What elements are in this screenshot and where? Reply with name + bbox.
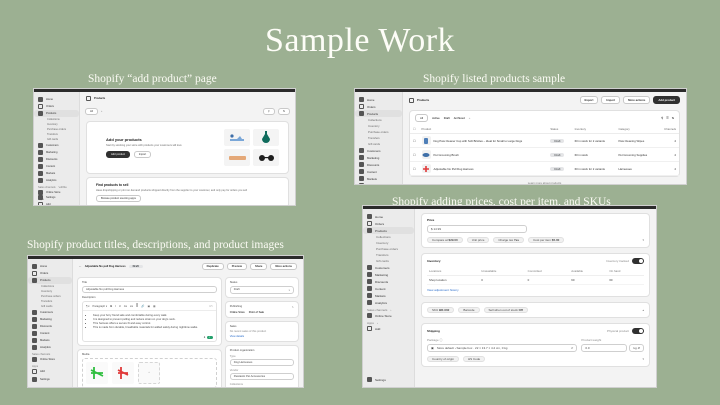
sidebar-item-content[interactable]: Content xyxy=(34,163,79,170)
sourcing-card: Find products to sell Have dropshipping … xyxy=(86,177,289,205)
row-checkbox[interactable]: ☐ xyxy=(413,139,416,143)
caption-listed-products: Shopify listed products sample xyxy=(423,73,565,85)
add-product-button[interactable]: Add product xyxy=(106,151,130,158)
sidebar-item-label: Home xyxy=(46,98,53,101)
paragraph-style-dropdown[interactable]: ¶ ▾ xyxy=(86,304,90,308)
sidebar-item-discounts[interactable]: Discounts xyxy=(34,156,79,163)
table-row[interactable]: ☐ Adjustable No Pull Dog Harness Draft xyxy=(410,162,679,176)
plus-icon xyxy=(367,326,372,331)
empty-state-heading: Add your products xyxy=(106,137,182,142)
unit-price-field[interactable]: Unit price xyxy=(467,237,490,243)
sidebar-item-orders[interactable]: Orders xyxy=(28,270,72,277)
sku-value: BR-002 xyxy=(439,308,449,312)
sidebar[interactable]: Home Orders Products Collections Invento… xyxy=(28,259,73,387)
discounts-icon xyxy=(32,324,37,329)
code-view-icon[interactable]: </> xyxy=(209,305,213,308)
oos-label: Sell when out of stock xyxy=(489,308,518,312)
link-icon[interactable]: 🔗 xyxy=(141,304,144,308)
row-checkbox[interactable]: ☐ xyxy=(413,167,416,171)
filter-all-tab[interactable]: All xyxy=(85,108,98,115)
discounts-icon xyxy=(359,162,364,167)
sidebar-item-online-store[interactable]: Online Store xyxy=(363,312,414,319)
table-row[interactable]: ☐ Pet Grooming Brush Draft 60 i xyxy=(410,148,679,162)
chevron-up-icon[interactable]: ▴ xyxy=(642,308,644,312)
share-button[interactable]: Share xyxy=(250,263,267,270)
barcode-field[interactable]: Barcode xyxy=(458,307,479,313)
country-of-origin-field[interactable]: Country of origin xyxy=(427,356,459,362)
sidebar-item-marketing[interactable]: Marketing xyxy=(28,316,72,323)
sidebar-item-discounts[interactable]: Discounts xyxy=(28,323,72,330)
search-icon[interactable]: ⚲ xyxy=(661,116,663,120)
on-hand-value[interactable]: 60 xyxy=(607,276,644,285)
sidebar-item-home[interactable]: Home xyxy=(28,263,72,270)
page-title-text: Products xyxy=(94,97,105,100)
sidebar-item-label: Products xyxy=(46,112,56,115)
channels-value: 2 xyxy=(657,162,679,176)
browse-sourcing-apps-button[interactable]: Browse product sourcing apps xyxy=(96,195,141,202)
package-value: Store default › Sample box · 22 × 13.7 ×… xyxy=(437,346,508,350)
organization-label: Product organization xyxy=(230,349,294,352)
col-inventory: Inventory xyxy=(572,125,616,134)
product-illustrations xyxy=(224,129,279,166)
charge-tax-label: Charge tax xyxy=(498,238,513,242)
product-title: Adjustable No pull Dog Harness xyxy=(85,265,126,268)
markets-icon xyxy=(359,176,364,181)
bold-icon[interactable]: B xyxy=(110,305,112,308)
physical-product-toggle[interactable] xyxy=(632,328,644,334)
sidebar-item-products[interactable]: Products xyxy=(363,227,414,234)
status-card: Status Draft ▾ xyxy=(225,277,299,298)
cost-per-item-field[interactable]: Cost per item $5.00 xyxy=(528,237,564,243)
empty-state-card: Add your products Start by stocking your… xyxy=(86,121,289,174)
import-button[interactable]: Import xyxy=(134,151,151,158)
compare-at-label: Compare at xyxy=(432,238,448,242)
table-header-row: Locations Unavailable Committed Availabl… xyxy=(427,267,644,276)
title-card: Title Adjustable No pull Dog Harness Des… xyxy=(77,277,222,346)
description-bullets: Keep your furry friend safe and comforta… xyxy=(83,311,216,333)
header-actions: Export Import More actions Add product xyxy=(580,96,680,104)
font-dropdown[interactable]: Paragraph ▾ xyxy=(93,304,108,308)
italic-icon[interactable]: I xyxy=(115,305,116,308)
sidebar-item-label: Discounts xyxy=(46,158,57,161)
store-icon xyxy=(32,357,37,362)
marketing-icon xyxy=(367,272,372,277)
media-thumbnail-red-harness[interactable] xyxy=(112,362,134,384)
sidebar-item-markets[interactable]: Markets xyxy=(34,170,79,177)
save-description-icon[interactable]: ✓ xyxy=(207,336,213,339)
caption-titles-descriptions: Shopify product titles, descriptions, an… xyxy=(27,239,284,251)
media-card: Media + xyxy=(77,349,222,387)
sidebar-item-settings[interactable]: Settings xyxy=(363,376,414,383)
products-icon xyxy=(367,228,372,233)
select-all-checkbox[interactable]: ☐ xyxy=(413,127,416,131)
view-adjustment-history-link[interactable]: View adjustment history xyxy=(427,288,644,292)
product-organization-card: Product organization Type Dog Harnesses … xyxy=(225,345,299,387)
text-color-icon[interactable]: A▾ xyxy=(124,304,127,308)
sidebar-item-customers[interactable]: Customers xyxy=(355,147,402,154)
status-tabs[interactable]: All Active Draft Archived + ⚲ ☰ ⇅ xyxy=(410,111,679,125)
discounts-icon xyxy=(367,279,372,284)
search-icon[interactable]: ⚲ xyxy=(263,108,275,115)
gear-icon xyxy=(38,195,43,200)
help-icon[interactable]: ⓘ xyxy=(440,338,443,342)
title-label: Title xyxy=(82,281,217,284)
sidebar-item-discounts[interactable]: Discounts xyxy=(355,161,402,168)
hs-code-field[interactable]: HS Code xyxy=(463,356,485,362)
preview-button[interactable]: Preview xyxy=(227,263,247,270)
gear-icon xyxy=(32,377,37,382)
sidebar-item-analytics[interactable]: Analytics xyxy=(34,177,79,184)
sidebar-item-label: Gift cards xyxy=(47,138,58,141)
gear-icon xyxy=(367,377,372,382)
sidebar-item-label: Markets xyxy=(46,172,55,175)
sidebar-item-marketing[interactable]: Marketing xyxy=(34,149,79,156)
table-row: Shop location 0 0 60 60 xyxy=(427,276,644,285)
product-header: ← Adjustable No pull Dog Harness Draft D… xyxy=(73,259,303,274)
media-gallery[interactable]: + xyxy=(82,358,217,387)
sidebar-item-content[interactable]: Content xyxy=(28,330,72,337)
plus-icon xyxy=(32,369,37,374)
category-value: Pet Grooming Supplies xyxy=(615,148,657,162)
home-icon xyxy=(32,264,37,269)
col-available: Available xyxy=(569,267,607,276)
duplicate-button[interactable]: Duplicate xyxy=(202,263,224,270)
main-content: Products Export Import More actions Add … xyxy=(403,92,686,184)
discounts-icon xyxy=(38,157,43,162)
sales-text: No recent sales of this product xyxy=(230,330,294,333)
content-icon xyxy=(367,286,372,291)
sidebar-item-marketing[interactable]: Marketing xyxy=(355,154,402,161)
sku-label: SKU xyxy=(432,308,438,312)
channel-point-of-sale[interactable]: Point of Sale xyxy=(249,311,264,314)
products-icon xyxy=(359,111,364,116)
col-on-hand: On hand xyxy=(607,267,644,276)
sidebar-item-orders[interactable]: Orders xyxy=(355,103,402,110)
description-editor[interactable]: ¶ ▾ Paragraph ▾ B I U A▾ ≡▾ ≣ 🔗 ▣ ▦ xyxy=(82,301,217,342)
sales-card: Sales No recent sales of this product Vi… xyxy=(225,321,299,342)
weight-unit-select[interactable]: kg ⇵ xyxy=(629,344,644,352)
sidebar-item-settings[interactable]: Settings xyxy=(28,376,72,383)
sidebar-item-customers[interactable]: Customers xyxy=(363,264,414,271)
status-select[interactable]: Draft ▾ xyxy=(230,286,294,294)
sidebar-item-products[interactable]: Products xyxy=(34,110,79,117)
type-label: Type xyxy=(230,355,294,358)
markets-icon xyxy=(367,293,372,298)
add-view-button[interactable]: + xyxy=(101,110,103,113)
screenshot-listed-products: Home Orders Products Collections Invento… xyxy=(354,88,687,185)
sidebar[interactable]: Home Orders Products Collections Invento… xyxy=(363,209,415,387)
sidebar-item-orders[interactable]: Orders xyxy=(363,220,414,227)
sidebar-item-content[interactable]: Content xyxy=(363,285,414,292)
category-value: Paw Cleaning Wipes xyxy=(615,134,657,148)
inventory-value: 60 in stock xyxy=(572,148,616,162)
sidebar-item-label: Purchase orders xyxy=(47,128,66,131)
sidebar-item-markets[interactable]: Markets xyxy=(28,337,72,344)
sidebar-item-orders[interactable]: Orders xyxy=(34,103,79,110)
caption-add-product-page: Shopify “add product” page xyxy=(88,73,217,85)
analytics-icon xyxy=(359,183,364,185)
unavailable-value[interactable]: 0 xyxy=(479,276,525,285)
committed-value[interactable]: 0 xyxy=(526,276,570,285)
analytics-icon xyxy=(32,345,37,350)
more-actions-button[interactable]: More actions xyxy=(623,96,650,104)
customers-icon xyxy=(359,148,364,153)
title-input[interactable]: Adjustable No pull Dog Harness xyxy=(82,286,217,293)
media-label: Media xyxy=(82,353,217,356)
back-arrow-icon[interactable]: ← xyxy=(79,265,82,268)
sidebar-item-label: Analytics xyxy=(46,179,56,182)
chevron-down-icon: \u203a xyxy=(59,186,67,189)
orders-icon xyxy=(38,104,43,109)
home-icon xyxy=(38,97,43,102)
status-badge: Draft xyxy=(129,265,143,268)
col-committed: Committed xyxy=(526,267,570,276)
type-input[interactable]: Dog Harnesses xyxy=(230,359,294,366)
shipping-section-title: Shipping xyxy=(427,329,440,333)
sell-out-of-stock-field[interactable]: Sell when out of stock Off xyxy=(484,307,528,313)
sku-card: SKU BR-002 Barcode Sell when out of stoc… xyxy=(421,302,650,318)
sidebar-item-label: Add xyxy=(46,203,51,206)
content-icon xyxy=(32,331,37,336)
sidebar-item-marketing[interactable]: Marketing xyxy=(363,271,414,278)
markets-icon xyxy=(38,171,43,176)
sku-field[interactable]: SKU BR-002 xyxy=(427,307,454,313)
products-icon xyxy=(38,111,43,116)
sidebar-item-analytics[interactable]: Analytics xyxy=(363,299,414,306)
sidebar[interactable]: Home Orders Products Collections Invento… xyxy=(34,92,80,205)
publishing-label: Publishing xyxy=(230,305,242,309)
main-content: Products All + ⚲ ⇅ Add your products Sta… xyxy=(80,92,295,205)
content-icon xyxy=(38,164,43,169)
sort-icon[interactable]: ⇅ xyxy=(278,108,290,115)
page-title-text: Products xyxy=(417,98,429,102)
inventory-tracked-label: Inventory tracked xyxy=(606,259,629,263)
more-actions-button[interactable]: More actions xyxy=(270,263,297,270)
compare-at-price-field[interactable]: Compare at $29.00 xyxy=(427,237,463,243)
sidebar-item-discounts[interactable]: Discounts xyxy=(363,278,414,285)
col-product: Product xyxy=(419,125,548,134)
sidebar-item-content[interactable]: Content xyxy=(355,168,402,175)
tab-active[interactable]: Active xyxy=(432,116,440,120)
charge-tax-value: Yes xyxy=(514,238,519,242)
status-value: Draft xyxy=(234,288,240,292)
package-label: Package ⓘ xyxy=(427,338,577,342)
sidebar-item-label: Marketing xyxy=(46,151,57,154)
header-actions: Duplicate Preview Share More actions xyxy=(202,263,297,270)
status-badge: Draft xyxy=(550,153,564,157)
sidebar-item-customers[interactable]: Customers xyxy=(34,142,79,149)
marketing-icon xyxy=(32,317,37,322)
chevron-down-icon[interactable]: ▾ xyxy=(642,238,644,242)
physical-product-label: Physical product xyxy=(607,329,629,333)
sidebar-item-analytics[interactable]: Analytics xyxy=(355,182,402,185)
product-thumbnail xyxy=(422,164,431,173)
list-icon[interactable]: ≡▾ xyxy=(130,304,133,308)
page-header: Products Export Import More actions Add … xyxy=(403,92,686,108)
inventory-table: Locations Unavailable Committed Availabl… xyxy=(427,267,644,285)
sidebar-item-settings[interactable]: Settings xyxy=(34,194,79,201)
product-name[interactable]: Dog Paw Cleaner Cup with Soft Bristles –… xyxy=(434,139,523,143)
status-label: Status xyxy=(230,281,294,284)
row-checkbox[interactable]: ☐ xyxy=(413,153,416,157)
tab-add-view[interactable]: + xyxy=(469,116,471,120)
home-icon xyxy=(359,97,364,102)
illustration-shoes xyxy=(224,129,250,146)
add-product-button[interactable]: Add product xyxy=(653,96,680,104)
illustration-soap xyxy=(224,149,250,166)
illustration-sunglasses xyxy=(253,149,279,166)
sidebar-item-label: Collections xyxy=(47,118,60,121)
inventory-card: Inventory Inventory tracked Locations Un… xyxy=(421,253,650,297)
page-header: Products xyxy=(80,92,295,105)
package-select[interactable]: ▣ Store default › Sample box · 22 × 13.7… xyxy=(427,344,577,352)
editor-toolbar[interactable]: ¶ ▾ Paragraph ▾ B I U A▾ ≡▾ ≣ 🔗 ▣ ▦ xyxy=(83,302,216,311)
main-content: Price $ 14.99 Compare at $29.00 Unit pri… xyxy=(415,209,656,387)
sidebar-item-customers[interactable]: Customers xyxy=(28,309,72,316)
view-details-link[interactable]: View details xyxy=(230,335,294,338)
location-name: Shop location xyxy=(427,276,479,285)
col-category: Category xyxy=(615,125,657,134)
category-value: Harnesses xyxy=(615,162,657,176)
product-name[interactable]: Pet Grooming Brush xyxy=(434,153,459,157)
weight-label: Product weight xyxy=(581,338,644,342)
sidebar-item-markets[interactable]: Markets xyxy=(363,292,414,299)
sort-icon[interactable]: ⇅ xyxy=(672,116,674,120)
main-content: ← Adjustable No pull Dog Harness Draft D… xyxy=(73,259,303,387)
orders-icon xyxy=(32,271,37,276)
sidebar-item-markets[interactable]: Markets xyxy=(355,175,402,182)
product-name[interactable]: Adjustable No Pull Dog Harness xyxy=(434,167,474,171)
underline-icon[interactable]: U xyxy=(119,305,121,308)
screenshot-product-detail: Home Orders Products Collections Invento… xyxy=(27,255,304,388)
product-thumbnail xyxy=(422,136,431,145)
col-locations: Locations xyxy=(427,267,479,276)
export-button[interactable]: Export xyxy=(580,96,599,104)
sidebar-item-add-app[interactable]: Add xyxy=(34,201,79,206)
col-channels: Channels xyxy=(657,125,679,134)
sidebar-item-home[interactable]: Home xyxy=(355,96,402,103)
bullet-item: This is made from durable, breathable ma… xyxy=(93,326,211,330)
analytics-icon xyxy=(38,178,43,183)
plus-icon xyxy=(38,202,43,206)
cost-per-item-label: Cost per item xyxy=(533,238,551,242)
available-value[interactable]: 60 xyxy=(569,276,607,285)
customers-icon xyxy=(38,143,43,148)
home-icon xyxy=(367,214,372,219)
inventory-section-title: Inventory xyxy=(427,259,441,263)
filter-bar[interactable]: All + ⚲ ⇅ xyxy=(80,105,295,118)
table-row[interactable]: ☐ Dog Paw Cleaner Cup with Soft Bristles… xyxy=(410,134,679,148)
inventory-tracked-toggle[interactable] xyxy=(632,258,644,264)
sidebar-item-home[interactable]: Home xyxy=(363,213,414,220)
sidebar-item-home[interactable]: Home xyxy=(34,96,79,103)
sidebar-item-label: Orders xyxy=(46,105,54,108)
vendor-label: Vendor xyxy=(230,369,294,372)
tab-all[interactable]: All xyxy=(415,114,428,122)
product-thumbnail xyxy=(422,150,431,159)
sales-label: Sales xyxy=(230,325,294,328)
inventory-value: 60 in stock for 2 variants xyxy=(572,134,616,148)
inventory-value: 60 in stock for 2 variants xyxy=(572,162,616,176)
charge-tax-field[interactable]: Charge tax Yes xyxy=(493,237,524,243)
sidebar-item-label: Inventory xyxy=(47,123,58,126)
sidebar-item-products[interactable]: Products xyxy=(355,110,402,117)
sidebar-item-label: Settings xyxy=(46,196,55,199)
content-icon xyxy=(359,169,364,174)
image-icon[interactable]: ▣ xyxy=(148,304,151,308)
price-card: Price $ 14.99 Compare at $29.00 Unit pri… xyxy=(421,213,650,248)
table-icon[interactable]: ▦ xyxy=(153,304,156,308)
learn-more-link[interactable]: Learn more about products xyxy=(403,181,686,184)
shipping-card: Shipping Physical product Package ⓘ xyxy=(421,323,650,367)
orders-icon xyxy=(359,104,364,109)
store-icon xyxy=(367,313,372,318)
chevron-down-icon[interactable]: ▾ xyxy=(642,357,644,361)
vendor-input[interactable]: Pawtastic Pet Accessories xyxy=(230,373,294,380)
sidebar-item-analytics[interactable]: Analytics xyxy=(28,344,72,351)
manage-icon[interactable]: ✎ xyxy=(292,305,294,309)
products-table: ☐ Product Status Inventory Category Chan… xyxy=(410,125,679,176)
sidebar-item-label: Content xyxy=(46,165,55,168)
price-section-title: Price xyxy=(427,218,644,222)
analytics-icon xyxy=(367,300,372,305)
publishing-card: Publishing ✎ Online Store Point of Sale xyxy=(225,301,299,318)
add-media-button[interactable]: + xyxy=(138,362,160,384)
marketing-icon xyxy=(38,150,43,155)
ai-generate-icon[interactable]: ✦ xyxy=(203,336,205,339)
chevron-right-icon: › xyxy=(390,308,391,312)
products-icon xyxy=(86,96,91,101)
price-input[interactable]: $ 14.99 xyxy=(427,225,527,233)
products-icon xyxy=(409,98,414,103)
empty-state-subtext: Start by stocking your store with produc… xyxy=(106,144,182,147)
tab-draft[interactable]: Draft xyxy=(444,116,450,120)
chevron-down-icon: ⇵ xyxy=(571,346,574,350)
page-title: Sample Work xyxy=(0,22,720,60)
channels-value: 2 xyxy=(657,134,679,148)
filter-icon[interactable]: ☰ xyxy=(666,116,669,120)
col-status: Status xyxy=(547,125,571,134)
marketing-icon xyxy=(359,155,364,160)
sidebar-item-online-store[interactable]: Online Store xyxy=(28,356,72,363)
customers-icon xyxy=(32,310,37,315)
media-thumbnail-green-harness[interactable] xyxy=(86,362,108,384)
import-button[interactable]: Import xyxy=(601,96,620,104)
align-icon[interactable]: ≣ xyxy=(136,304,138,308)
sidebar-item-add-app[interactable]: Add xyxy=(363,325,414,332)
status-badge: Draft xyxy=(550,139,564,143)
status-badge: Draft xyxy=(550,167,564,171)
sidebar-item-label: Customers xyxy=(46,144,59,147)
illustration-vase xyxy=(253,129,279,146)
tab-archived[interactable]: Archived xyxy=(454,116,465,120)
oos-value: Off xyxy=(519,308,523,312)
channel-online-store[interactable]: Online Store xyxy=(230,311,245,314)
orders-icon xyxy=(367,221,372,226)
sidebar-item-products[interactable]: Products xyxy=(28,277,72,284)
package-icon: ▣ xyxy=(431,346,434,350)
sourcing-subtext: Have dropshipping or print on demand pro… xyxy=(96,189,279,192)
screenshot-add-product-page: Home Orders Products Collections Invento… xyxy=(33,88,296,206)
compare-at-value: $29.00 xyxy=(449,238,458,242)
markets-icon xyxy=(32,338,37,343)
sidebar-item-label: Transfers xyxy=(47,133,58,136)
sourcing-heading: Find products to sell xyxy=(96,183,279,187)
sidebar-item-add-app[interactable]: Add xyxy=(28,368,72,375)
weight-input[interactable]: 0.0 xyxy=(581,344,627,352)
chevron-down-icon: ▾ xyxy=(289,288,290,292)
sidebar[interactable]: Home Orders Products Collections Invento… xyxy=(355,92,403,184)
